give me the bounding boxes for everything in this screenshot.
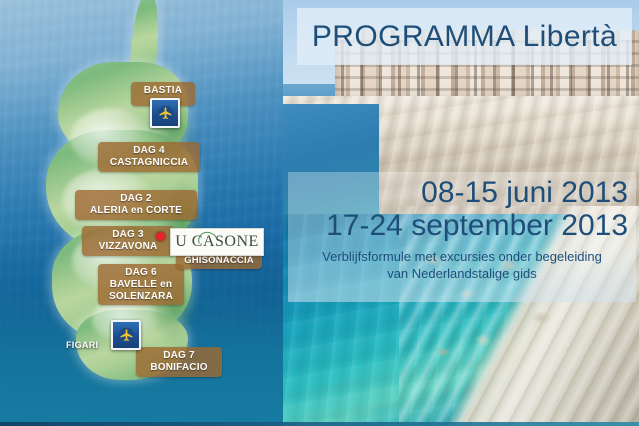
dag-4-day: DAG 4 xyxy=(104,145,194,157)
page-title: PROGRAMMA Libertà xyxy=(312,20,617,54)
dag-7-place: BONIFACIO xyxy=(142,362,216,374)
u-casone-logo[interactable]: U CASONE xyxy=(170,228,264,256)
dag-6-day: DAG 6 xyxy=(104,267,178,279)
dag-7-day: DAG 7 xyxy=(142,350,216,362)
dag-6-place-line-2: SOLENZARA xyxy=(104,291,178,303)
airport-icon-bastia[interactable] xyxy=(150,98,180,128)
date-line-september: 17-24 september 2013 xyxy=(288,209,636,242)
dates-panel: 08-15 juni 2013 17-24 september 2013 Ver… xyxy=(288,172,636,302)
u-casone-logo-text: U CASONE xyxy=(175,233,259,251)
map-label-figari: FIGARI xyxy=(66,340,98,350)
map-label-dag-4[interactable]: DAG 4 CASTAGNICCIA xyxy=(98,142,200,172)
dag-6-place-line-1: BAVELLE en xyxy=(104,279,178,291)
travel-poster: BASTIA DAG 4 CASTAGNICCIA DAG 2 ALERIA e… xyxy=(0,0,639,426)
map-label-dag-6[interactable]: DAG 6 BAVELLE en SOLENZARA xyxy=(98,264,184,305)
dag-2-day: DAG 2 xyxy=(81,193,191,205)
map-label-dag-7[interactable]: DAG 7 BONIFACIO xyxy=(136,347,222,377)
map-label-dag-2[interactable]: DAG 2 ALERIA en CORTE xyxy=(75,190,197,220)
subtitle-block: Verblijfsformule met excursies onder beg… xyxy=(288,249,636,282)
dag-3-place: VIZZAVONA xyxy=(88,241,168,253)
date-line-june: 08-15 juni 2013 xyxy=(288,176,636,209)
bottom-edge-strip xyxy=(0,422,639,426)
subtitle-line-1: Verblijfsformule met excursies onder beg… xyxy=(296,249,628,266)
map-label-bastia-text: BASTIA xyxy=(144,85,182,96)
dag-4-place: CASTAGNICCIA xyxy=(104,157,194,169)
title-banner: PROGRAMMA Libertà xyxy=(297,8,632,65)
map-label-ghisonaccia-text: GHISONACCIA xyxy=(184,255,254,266)
subtitle-line-2: van Nederlandstalige gids xyxy=(296,266,628,283)
corsica-map-panel: BASTIA DAG 4 CASTAGNICCIA DAG 2 ALERIA e… xyxy=(0,0,292,426)
dag-2-place: ALERIA en CORTE xyxy=(81,205,191,217)
airport-icon-figari[interactable] xyxy=(111,320,141,350)
location-marker-ghisonaccia xyxy=(156,232,165,241)
